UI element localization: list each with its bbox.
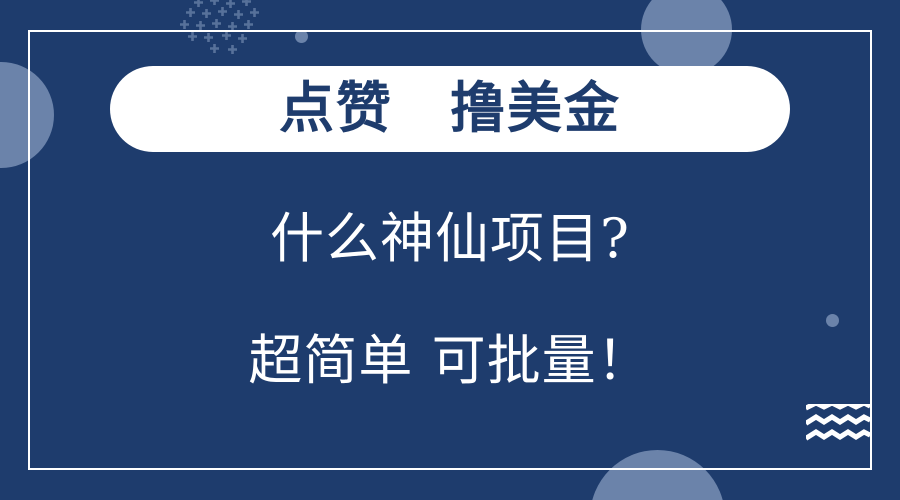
- page-title: 点赞 撸美金: [279, 81, 621, 136]
- subtitle-line-1: 什么神仙项目?: [270, 212, 630, 266]
- poster-content: 点赞 撸美金 什么神仙项目? 超简单 可批量！: [0, 0, 900, 500]
- poster-canvas: 点赞 撸美金 什么神仙项目? 超简单 可批量！: [0, 0, 900, 500]
- headline-pill: 点赞 撸美金: [110, 66, 790, 152]
- subtitle-line-2: 超简单 可批量！: [248, 334, 651, 388]
